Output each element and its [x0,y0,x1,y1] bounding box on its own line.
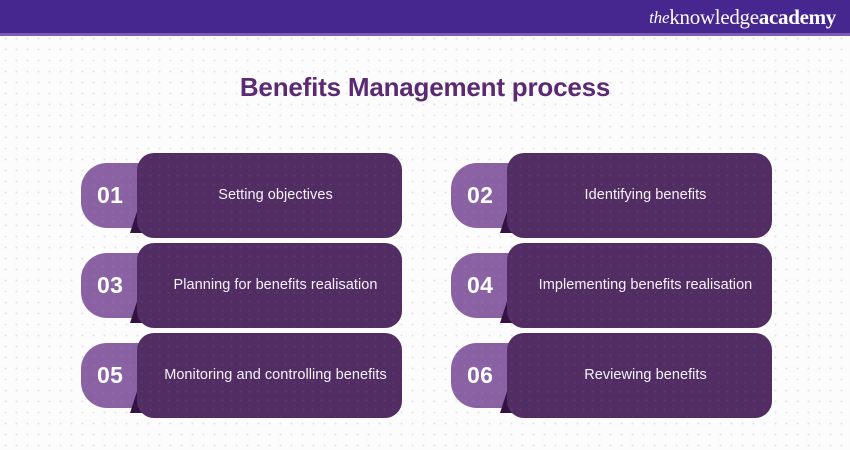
step-card[interactable]: Identifying benefits [507,153,772,238]
brand-logo-the: the [649,9,669,26]
brand-logo-knowledge: knowledge [669,7,758,28]
header-accent-divider [0,33,850,36]
step-number: 03 [97,274,123,297]
step-label: Identifying benefits [585,186,707,206]
step-card[interactable]: Reviewing benefits [507,333,772,418]
process-steps-grid: 01 Setting objectives 02 Identifying ben… [0,148,850,423]
step-card[interactable]: Implementing benefits realisation [507,243,772,328]
step-label: Setting objectives [218,186,333,206]
step-card[interactable]: Planning for benefits realisation [137,243,402,328]
step-number: 01 [97,184,123,207]
header-bar: theknowledgeacademy [0,0,850,33]
step-label: Implementing benefits realisation [539,276,753,296]
step-number: 05 [97,364,123,387]
step-card[interactable]: Monitoring and controlling benefits [137,333,402,418]
step-label: Monitoring and controlling benefits [164,366,387,386]
process-step-05[interactable]: 05 Monitoring and controlling benefits [78,328,408,418]
step-number: 04 [467,274,493,297]
process-step-06[interactable]: 06 Reviewing benefits [448,328,778,418]
step-number: 02 [467,184,493,207]
process-step-03[interactable]: 03 Planning for benefits realisation [78,238,408,328]
brand-logo: theknowledgeacademy [649,1,836,33]
brand-logo-academy: academy [759,7,836,28]
process-step-01[interactable]: 01 Setting objectives [78,148,408,238]
step-card[interactable]: Setting objectives [137,153,402,238]
process-step-04[interactable]: 04 Implementing benefits realisation [448,238,778,328]
step-number: 06 [467,364,493,387]
page-title: Benefits Management process [0,72,850,103]
step-label: Reviewing benefits [584,366,707,386]
process-step-02[interactable]: 02 Identifying benefits [448,148,778,238]
step-label: Planning for benefits realisation [174,276,378,296]
